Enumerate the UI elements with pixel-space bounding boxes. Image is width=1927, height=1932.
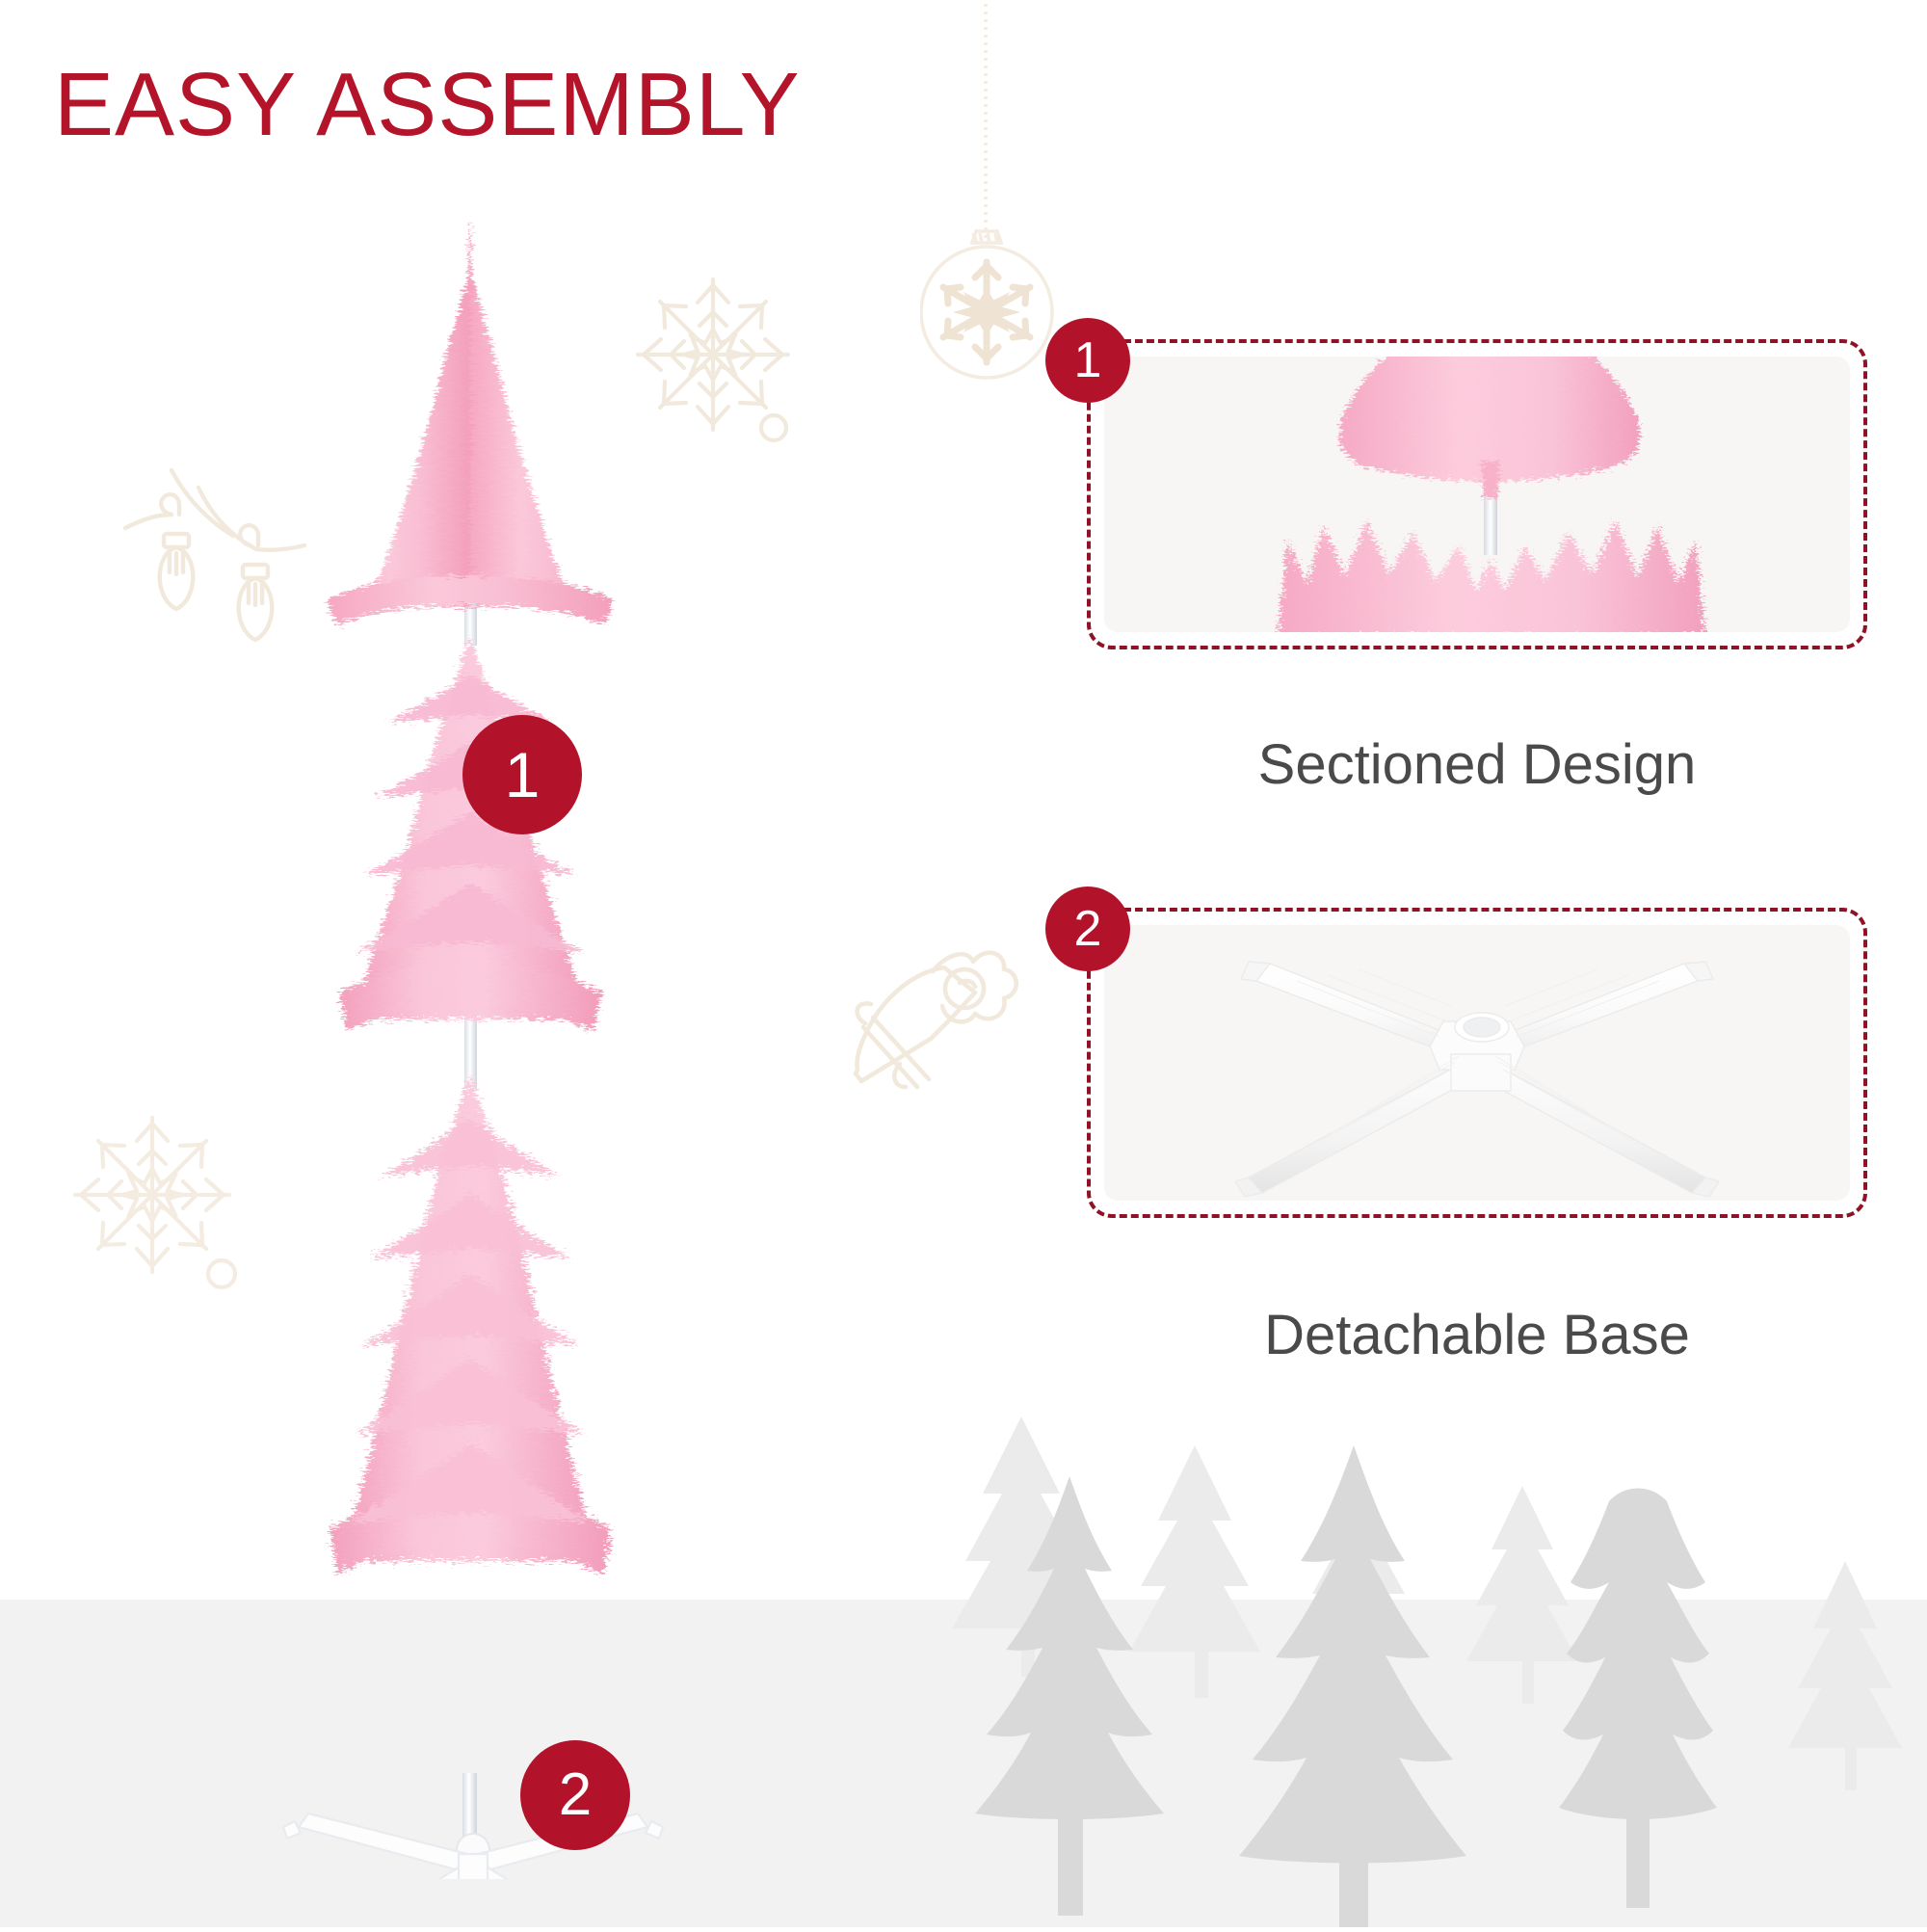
bell-with-bow-icon (831, 904, 1023, 1106)
photo-detachable-base (1104, 925, 1850, 1201)
feature-badge-2: 2 (1045, 887, 1130, 971)
feature-badge-1: 1 (1045, 318, 1130, 403)
page-title: EASY ASSEMBLY (54, 60, 801, 149)
feature-caption-2: Detachable Base (1087, 1303, 1867, 1367)
product-exploded-view (222, 222, 723, 1879)
feature-panel-sectioned-design (1087, 339, 1867, 649)
pine-forest-silhouette (906, 1388, 1927, 1927)
callout-badge-2: 2 (520, 1740, 630, 1850)
infographic-canvas: EASY ASSEMBLY (0, 0, 1927, 1927)
feature-caption-1: Sectioned Design (1087, 732, 1867, 797)
feature-panel-detachable-base (1087, 908, 1867, 1218)
photo-sectioned-design (1104, 357, 1850, 632)
callout-badge-1: 1 (462, 715, 582, 834)
